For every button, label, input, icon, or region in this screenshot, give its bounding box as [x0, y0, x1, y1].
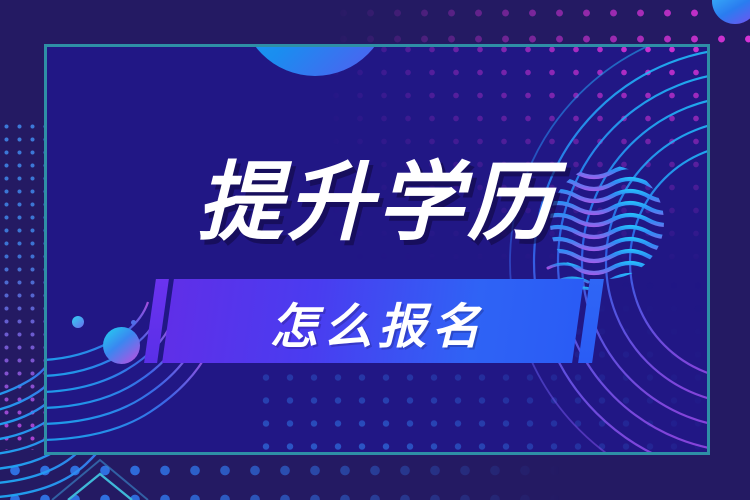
- page-title: 提升学历: [0, 160, 750, 246]
- top-gradient-circle-icon: [240, 44, 390, 76]
- top-right-circle-icon: [712, 0, 750, 24]
- halftone-dots-top-right-outer-icon: [330, 0, 750, 46]
- subtitle-text: 怎么报名: [0, 279, 750, 365]
- poster-canvas: 提升学历 怎么报名: [0, 0, 750, 500]
- halftone-dots-bottom-outer-icon: [0, 456, 560, 500]
